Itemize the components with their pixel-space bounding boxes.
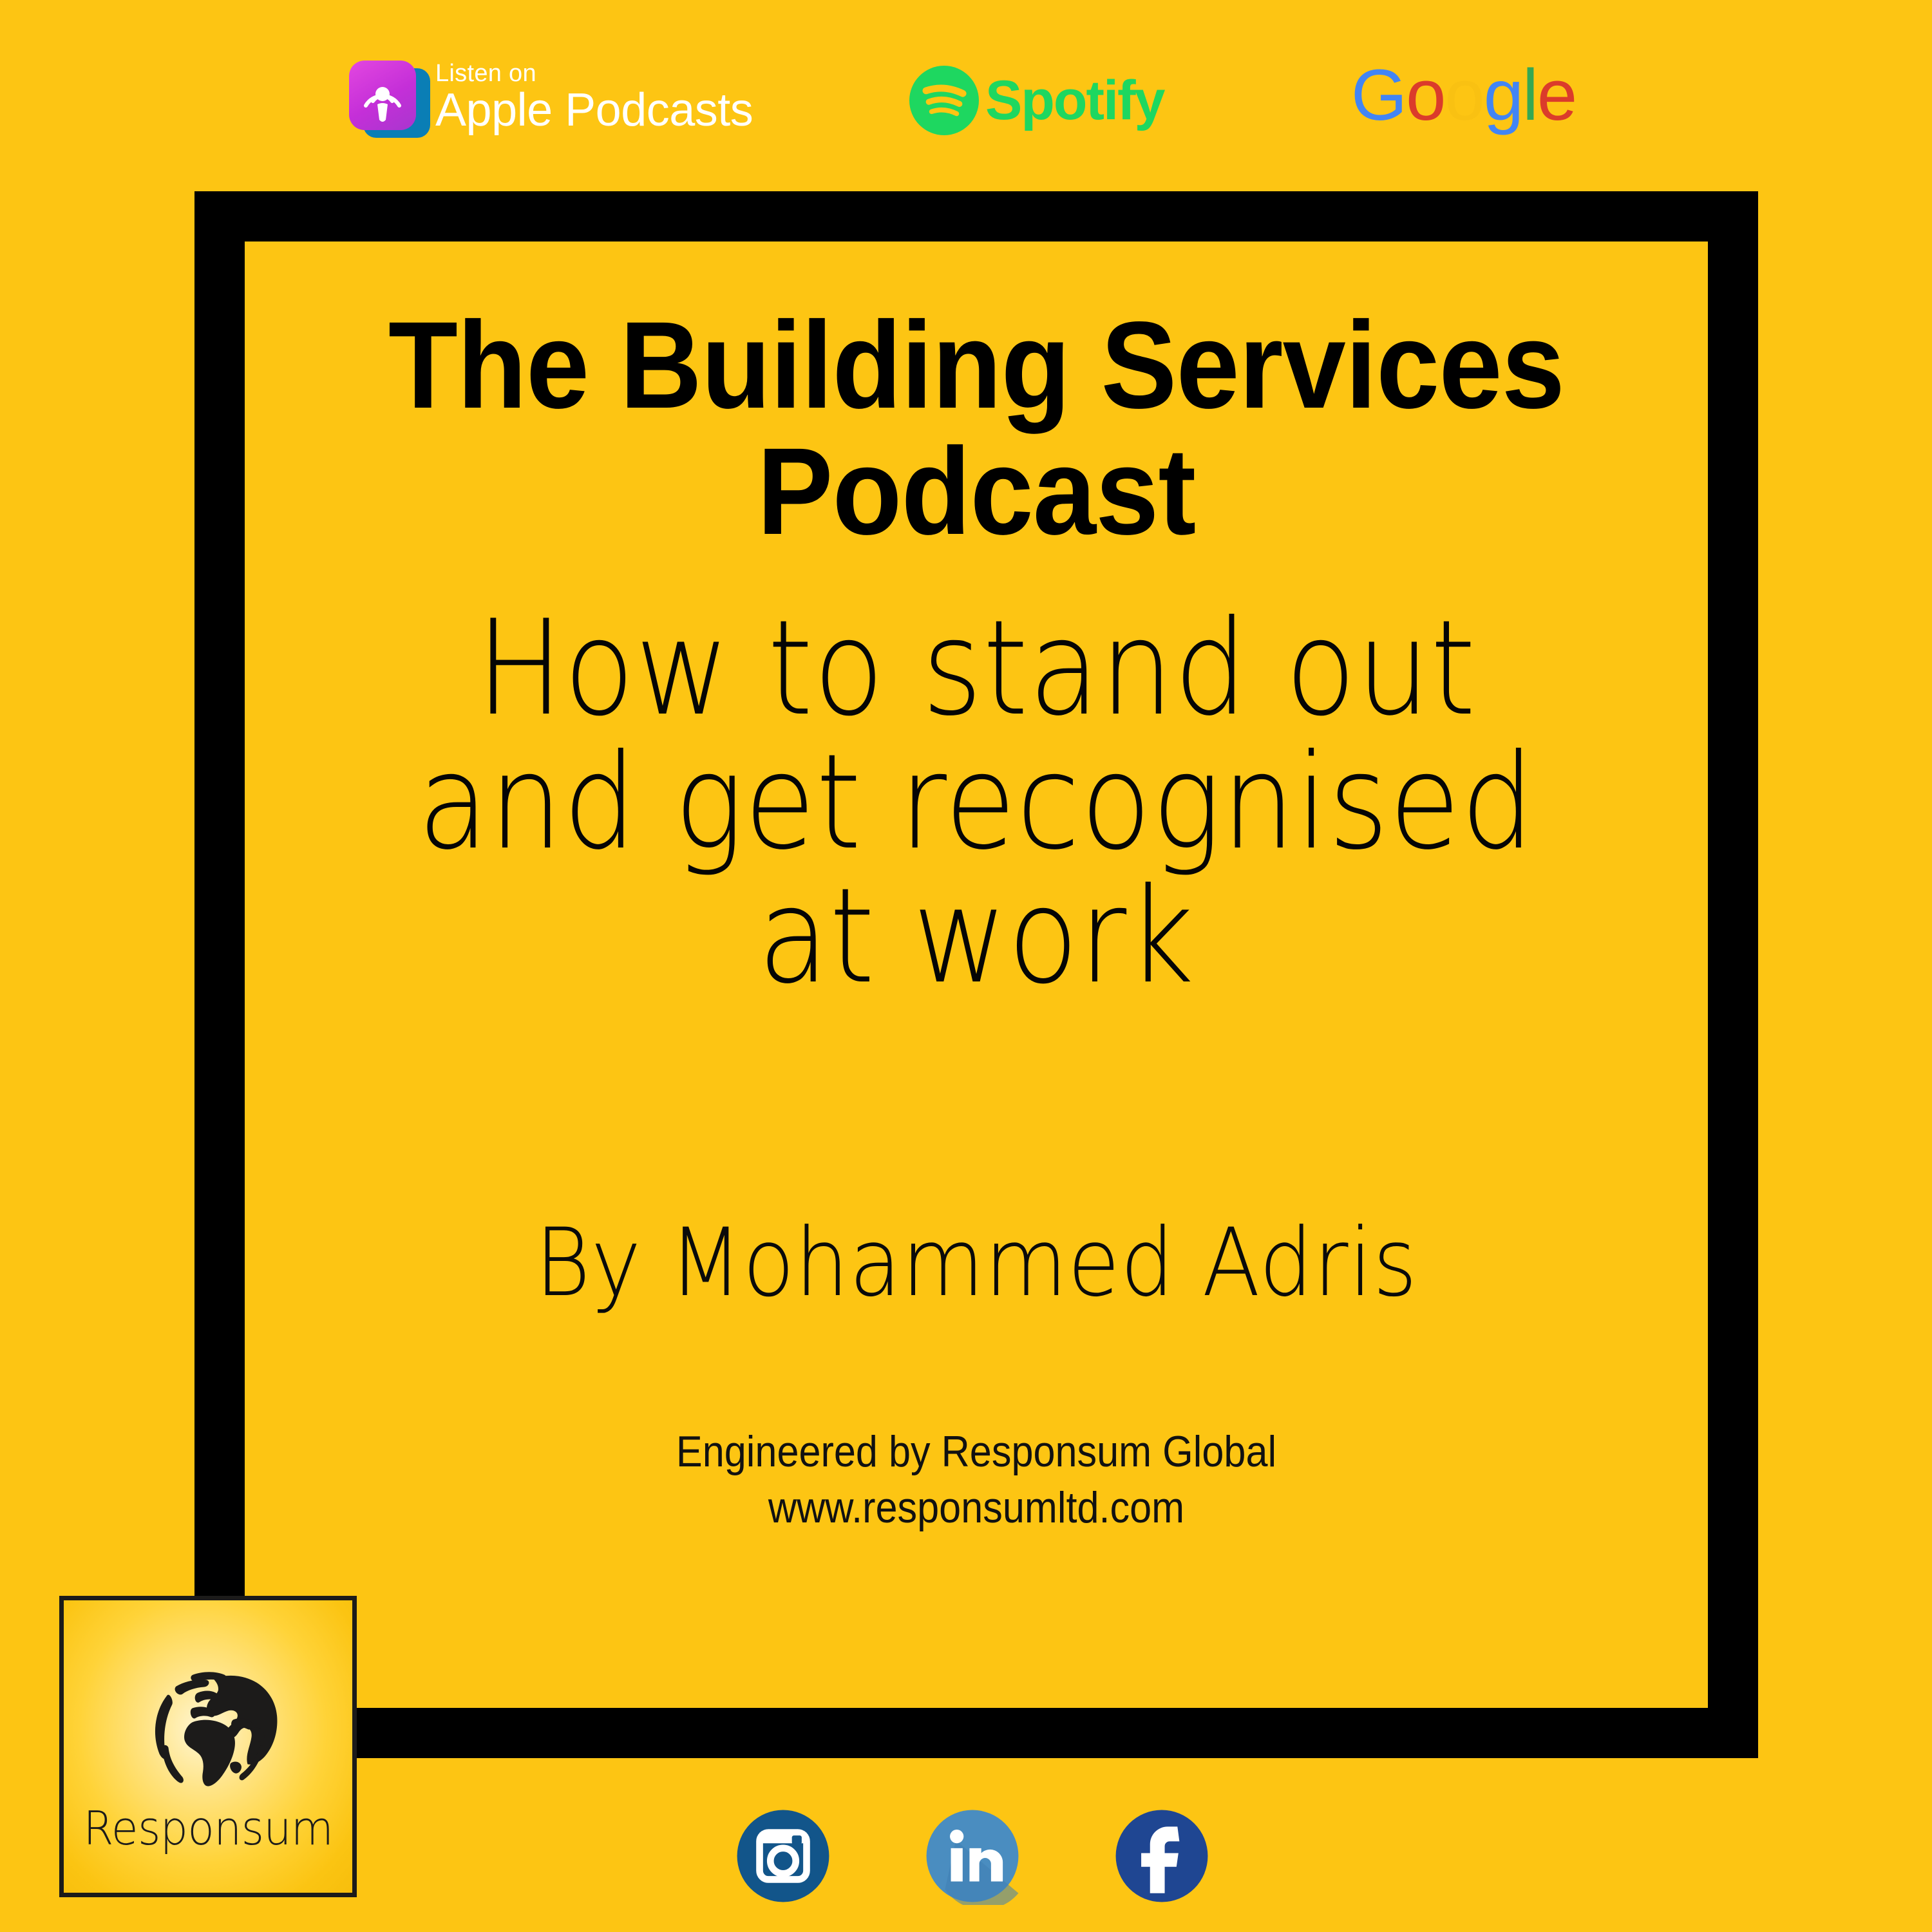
episode-title-line-1: How to stand out [332,602,1620,736]
credits-website: www.responsumltd.com [318,1480,1635,1536]
responsum-logo-card[interactable]: Responsum [59,1596,357,1897]
globe-icon-svg [131,1653,285,1797]
facebook-icon[interactable] [1113,1807,1211,1905]
mic-body [377,103,388,122]
google-letter-g2: g [1484,59,1522,131]
show-title-line-1: The Building Services [303,302,1649,428]
episode-author: By Mohammed Adris [318,1214,1635,1312]
platform-badges-row: Listen on Apple Podcasts Spotify Google [0,0,1932,187]
apple-podcasts-icon [348,57,429,138]
show-title-line-2: Podcast [303,428,1649,554]
content-frame: The Building Services Podcast How to sta… [194,191,1758,1758]
google-letter-g1: G [1351,59,1406,131]
google-letter-o1: o [1406,59,1444,131]
episode-title: How to stand out and get recognised at w… [332,602,1620,1004]
spotify-label: Spotify [985,73,1164,128]
apple-badge-text: Listen on Apple Podcasts [435,61,753,133]
google-letter-o2: o [1444,59,1483,131]
episode-title-line-2: and get recognised [332,736,1620,870]
google-badge[interactable]: Google [1351,59,1576,131]
apple-podcasts-badge[interactable]: Listen on Apple Podcasts [348,57,753,138]
credits-engineered-by: Engineered by Responsum Global [318,1424,1635,1480]
apple-listen-label: Listen on [435,61,753,86]
globe-icon [131,1653,285,1797]
instagram-icon[interactable] [734,1807,832,1905]
episode-title-line-3: at work [332,870,1620,1004]
apple-podcasts-label: Apple Podcasts [435,87,753,133]
spotify-icon [909,66,979,135]
spotify-badge[interactable]: Spotify [909,66,1164,135]
credits-block: Engineered by Responsum Global www.respo… [318,1424,1635,1536]
responsum-label: Responsum [83,1805,333,1851]
mic-head [375,87,390,101]
social-icons-row [734,1807,1211,1923]
linkedin-icon[interactable] [923,1807,1021,1905]
podcast-cover-art: Listen on Apple Podcasts Spotify Google [0,0,1932,1932]
google-letter-e: e [1537,59,1576,131]
google-letter-l: l [1522,59,1537,131]
podcast-mic-glyph [349,61,416,130]
frame-inner: The Building Services Podcast How to sta… [245,241,1708,1708]
show-title: The Building Services Podcast [303,302,1649,554]
